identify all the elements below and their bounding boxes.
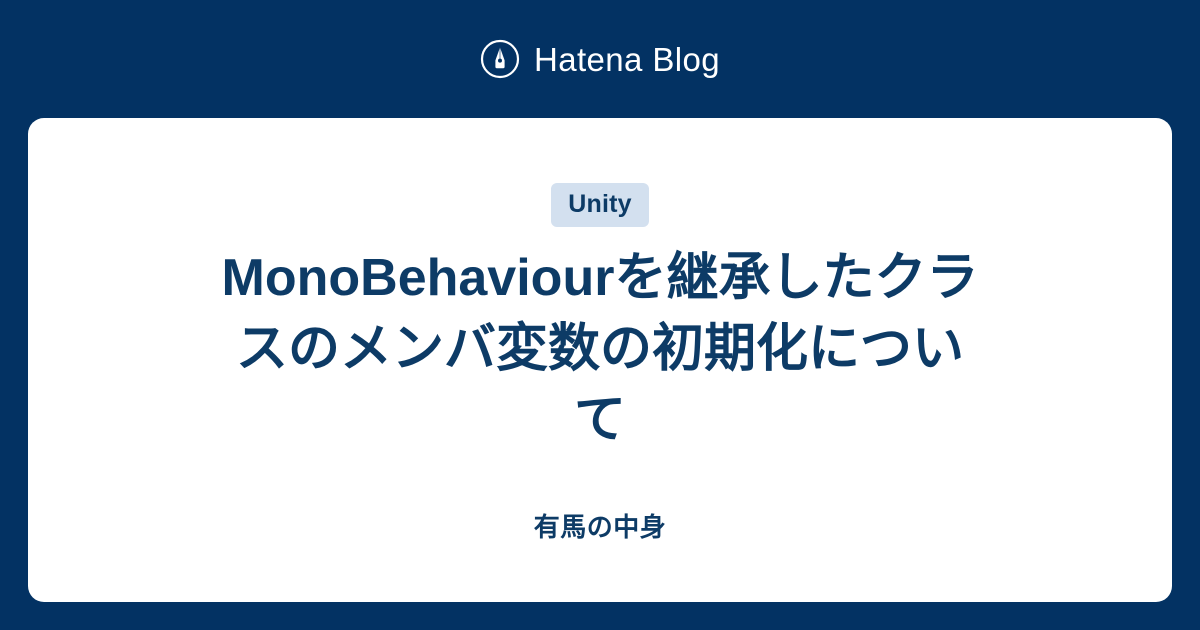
entry-card: Unity MonoBehaviourを継承したクラスのメンバ変数の初期化につい… [28,118,1172,602]
entry-title: MonoBehaviourを継承したクラスのメンバ変数の初期化について [220,243,980,456]
brand-name: Hatena Blog [534,43,720,76]
hatena-pen-nib-icon [480,39,520,79]
category-tag[interactable]: Unity [551,183,649,227]
blog-name: 有馬の中身 [28,514,1172,540]
category-tag-row: Unity [28,183,1172,227]
brand-header: Hatena Blog [0,0,1200,118]
entry-card-inner: Unity MonoBehaviourを継承したクラスのメンバ変数の初期化につい… [28,118,1172,602]
ogp-card-root: Hatena Blog Unity MonoBehaviourを継承したクラスの… [0,0,1200,630]
